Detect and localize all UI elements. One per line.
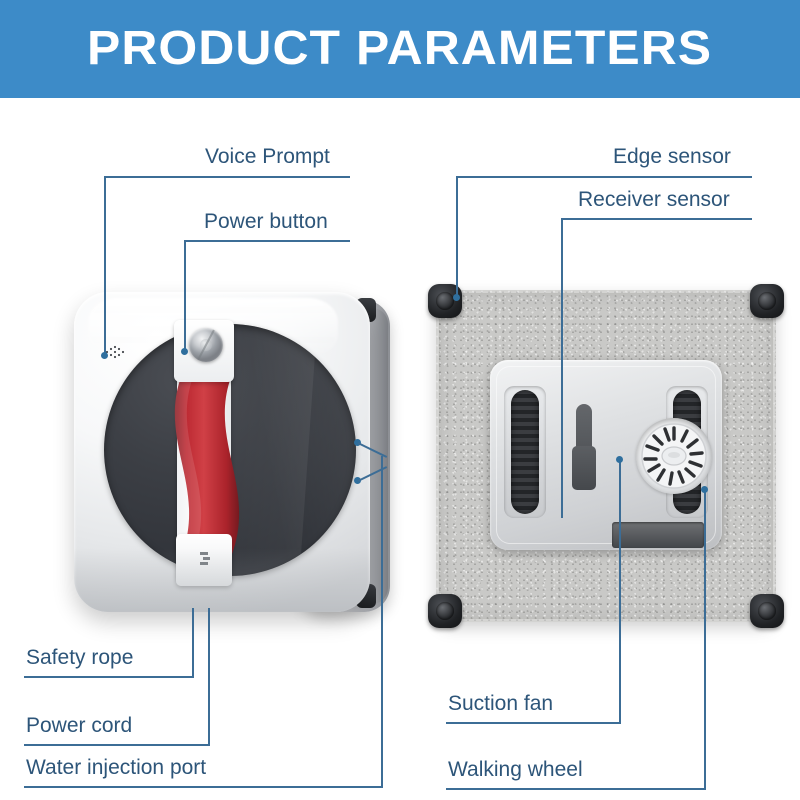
edge-sensor-bottom-left: [428, 594, 462, 628]
edge-sensor-lens: [758, 602, 776, 620]
suction-fan: [636, 418, 712, 494]
edge-sensor-top-right: [750, 284, 784, 318]
housing-shadow: [74, 548, 370, 612]
edge-sensor-lens: [436, 602, 454, 620]
infographic-canvas: PRODUCT PARAMETERS: [0, 0, 800, 800]
edge-sensor-lens: [436, 292, 454, 310]
callout-label-walking-wheel: Walking wheel: [448, 759, 583, 780]
leader-voice-prompt-dot: [101, 352, 108, 359]
leader-safety-rope-vertical: [192, 608, 194, 678]
leader-safety-rope-horizontal: [24, 676, 194, 678]
edge-sensor-lens: [758, 292, 776, 310]
product-image-front-view: [66, 292, 388, 620]
walking-wheel-left: [504, 386, 546, 518]
leader-power-cord-vertical: [208, 608, 210, 746]
page-title: PRODUCT PARAMETERS: [87, 25, 712, 73]
page-header-banner: PRODUCT PARAMETERS: [0, 0, 800, 98]
base-plate: [490, 360, 722, 550]
leader-power-button-dot: [181, 348, 188, 355]
power-button-core: [200, 339, 212, 351]
device-front-housing: [74, 292, 370, 612]
leader-power-cord-horizontal: [24, 744, 210, 746]
callout-label-receiver-sensor: Receiver sensor: [578, 189, 730, 210]
callout-label-voice-prompt: Voice Prompt: [205, 146, 330, 167]
callout-label-water-injection-port: Water injection port: [26, 757, 206, 778]
callout-label-power-cord: Power cord: [26, 715, 132, 736]
callout-label-safety-rope: Safety rope: [26, 647, 133, 668]
receiver-sensor: [612, 522, 704, 548]
leader-walking-wheel-horizontal: [446, 788, 706, 790]
leader-suction-fan-vertical: [619, 462, 621, 724]
handle-slot-lower: [572, 446, 596, 490]
product-image-back-view: [428, 284, 784, 636]
leader-edge-sensor-dot: [453, 294, 460, 301]
suction-fan-icon: [636, 418, 712, 494]
leader-power-button-vertical: [184, 240, 186, 352]
leader-voice-prompt-vertical: [104, 176, 106, 356]
wheel-belt: [511, 390, 539, 514]
leader-suction-fan-horizontal: [446, 722, 621, 724]
leader-edge-sensor-horizontal: [456, 176, 752, 178]
leader-suction-fan-dot: [616, 456, 623, 463]
leader-walking-wheel-vertical: [704, 492, 706, 790]
leader-water-port-horizontal: [24, 786, 383, 788]
edge-sensor-bottom-right: [750, 594, 784, 628]
leader-receiver-sensor-horizontal: [561, 218, 752, 220]
leader-receiver-sensor-vertical: [561, 218, 563, 518]
power-button[interactable]: [189, 328, 223, 362]
leader-power-button-horizontal: [184, 240, 350, 242]
leader-water-port-vertical: [381, 456, 383, 788]
callout-label-suction-fan: Suction fan: [448, 693, 553, 714]
leader-walking-wheel-dot: [701, 486, 708, 493]
leader-edge-sensor-vertical: [456, 176, 458, 298]
leader-voice-prompt-horizontal: [104, 176, 350, 178]
callout-label-power-button: Power button: [204, 211, 328, 232]
callout-label-edge-sensor: Edge sensor: [613, 146, 731, 167]
header-divider: [0, 98, 800, 102]
